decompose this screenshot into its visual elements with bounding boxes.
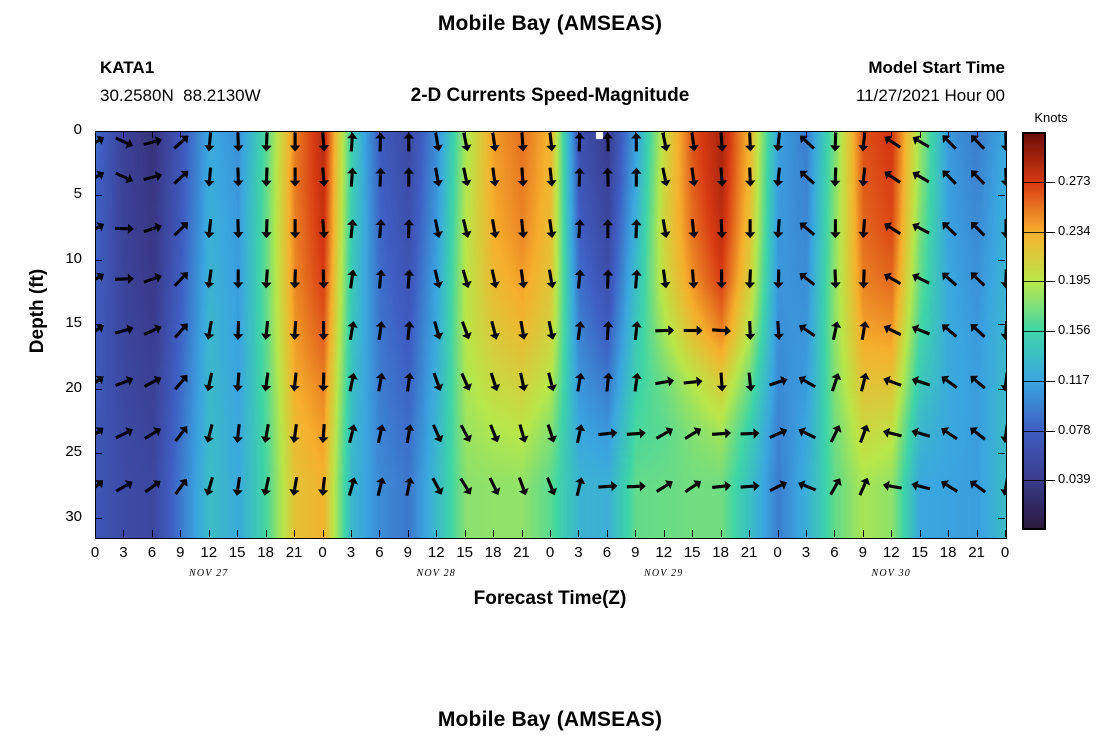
- current-arrow: [745, 373, 755, 392]
- current-arrow: [462, 373, 472, 390]
- current-arrow: [603, 373, 613, 392]
- current-arrow: [433, 168, 443, 187]
- current-arrow: [660, 133, 670, 152]
- current-arrow: [627, 428, 646, 438]
- current-arrow: [547, 425, 557, 443]
- y-axis-tick: [998, 260, 1005, 261]
- current-arrow: [1001, 219, 1006, 238]
- current-arrow: [174, 136, 188, 149]
- current-arrow: [233, 269, 243, 288]
- current-arrow: [461, 168, 471, 187]
- current-arrow: [204, 321, 214, 340]
- x-axis-tick: [806, 131, 807, 138]
- current-arrow: [773, 219, 783, 238]
- y-axis-minor-tick: [95, 176, 100, 177]
- colorbar-tick: [1046, 331, 1055, 332]
- current-arrow: [115, 274, 134, 284]
- current-arrow: [462, 322, 472, 340]
- colorbar-band-seam: [1022, 281, 1046, 282]
- current-arrow: [144, 136, 162, 146]
- current-arrow: [912, 273, 929, 283]
- current-arrow: [490, 133, 500, 152]
- x-axis-tick: [294, 131, 295, 138]
- current-arrow: [971, 222, 985, 236]
- x-axis-tick: [721, 530, 722, 537]
- current-arrow: [519, 478, 529, 496]
- current-arrow: [770, 427, 787, 437]
- x-axis-tick: [1005, 530, 1006, 537]
- current-arrow: [347, 270, 357, 289]
- current-arrow: [347, 321, 357, 340]
- x-axis-tick: [152, 530, 153, 537]
- current-arrow: [883, 376, 901, 386]
- current-arrow: [655, 325, 674, 335]
- current-arrow: [884, 324, 901, 334]
- current-arrow: [318, 321, 328, 340]
- current-arrow: [375, 133, 385, 152]
- colorbar-tick-label: 0.234: [1058, 223, 1091, 238]
- current-arrow: [318, 373, 328, 392]
- colorbar-tick: [1046, 480, 1055, 481]
- current-arrow: [290, 269, 300, 288]
- x-axis-tick: [635, 131, 636, 138]
- current-arrow: [433, 219, 443, 238]
- current-arrow: [971, 272, 985, 285]
- current-arrow: [490, 168, 500, 187]
- x-axis-tick: [664, 131, 665, 138]
- current-arrow: [741, 481, 760, 491]
- current-arrow: [860, 478, 870, 495]
- current-arrow: [347, 168, 357, 187]
- model-start-time-label: Model Start Time: [700, 58, 1005, 78]
- current-arrow: [884, 171, 900, 183]
- y-axis-minor-tick: [95, 433, 100, 434]
- current-arrow: [655, 376, 674, 386]
- x-axis-tick: [778, 530, 779, 537]
- current-arrow: [575, 219, 585, 238]
- x-axis-tick: [692, 131, 693, 138]
- current-arrow: [204, 168, 214, 187]
- current-arrow: [627, 481, 646, 491]
- current-arrow: [547, 270, 557, 289]
- x-axis-tick: [408, 131, 409, 138]
- y-axis-minor-tick: [95, 329, 100, 330]
- current-arrow: [96, 136, 104, 147]
- x-axis-tick: [863, 131, 864, 138]
- current-arrow: [233, 321, 243, 340]
- y-axis-minor-tick: [95, 278, 100, 279]
- model-start-time-value: 11/27/2021 Hour 00: [700, 86, 1005, 106]
- current-arrow: [261, 219, 271, 238]
- current-arrow: [800, 171, 814, 184]
- current-arrow: [261, 270, 271, 289]
- current-arrow: [831, 425, 841, 442]
- y-axis-tick-label: 30: [42, 508, 82, 525]
- current-arrow: [116, 138, 133, 148]
- x-axis-tick: [721, 131, 722, 138]
- current-arrow: [116, 480, 133, 491]
- current-arrow: [319, 219, 329, 238]
- current-arrow: [830, 168, 840, 187]
- current-arrow: [632, 321, 642, 340]
- colorbar-tick-label: 0.078: [1058, 422, 1091, 437]
- x-axis-tick: [209, 530, 210, 537]
- current-arrow: [144, 223, 162, 233]
- current-arrow: [145, 427, 161, 438]
- current-arrow: [490, 373, 500, 391]
- current-arrow: [773, 168, 783, 187]
- x-axis-tick: [180, 530, 181, 537]
- current-arrow: [289, 477, 299, 496]
- current-arrow: [912, 222, 929, 233]
- x-axis-tick: [948, 131, 949, 138]
- current-arrow: [831, 321, 841, 340]
- colorbar-tick: [1046, 281, 1055, 282]
- current-arrow: [404, 168, 414, 187]
- current-arrow: [546, 168, 556, 187]
- x-axis-tick: [237, 530, 238, 537]
- current-arrow: [233, 424, 243, 443]
- y-axis-tick: [95, 324, 102, 325]
- current-arrow: [770, 376, 788, 386]
- current-arrow: [175, 375, 187, 390]
- current-arrow: [433, 321, 443, 339]
- x-axis-tick: [920, 131, 921, 138]
- x-axis-tick: [266, 131, 267, 138]
- current-arrow: [858, 219, 868, 238]
- current-arrow: [461, 133, 471, 152]
- current-arrow: [347, 133, 357, 152]
- x-axis-tick: [834, 131, 835, 138]
- current-arrow: [176, 479, 188, 494]
- current-arrow: [660, 168, 670, 187]
- x-axis-tick: [123, 131, 124, 138]
- colorbar-band-seam: [1022, 381, 1046, 382]
- current-arrow: [598, 481, 617, 491]
- x-axis-tick: [493, 530, 494, 537]
- x-axis-tick: [522, 131, 523, 138]
- current-arrow: [490, 321, 500, 339]
- current-arrow: [632, 373, 642, 392]
- x-axis-tick: [465, 530, 466, 537]
- current-arrow: [660, 219, 670, 238]
- current-arrow: [799, 324, 815, 336]
- current-arrow: [461, 478, 472, 494]
- current-arrow: [575, 477, 585, 496]
- x-axis-tick: [664, 530, 665, 537]
- x-axis-tick: [977, 131, 978, 138]
- x-axis-tick: [635, 530, 636, 537]
- current-arrow: [859, 321, 869, 340]
- current-arrow: [462, 219, 472, 238]
- current-arrow: [348, 477, 358, 495]
- y-axis-tick: [998, 518, 1005, 519]
- current-arrow: [942, 170, 955, 183]
- x-axis-tick: [778, 131, 779, 138]
- current-arrow: [770, 480, 787, 490]
- current-arrow: [376, 424, 386, 443]
- y-axis-title: Depth (ft): [27, 251, 49, 371]
- x-axis-tick: [493, 131, 494, 138]
- current-arrow: [175, 272, 188, 286]
- y-axis-tick: [998, 324, 1005, 325]
- current-arrow: [546, 219, 556, 238]
- current-arrow: [598, 428, 617, 438]
- current-arrow: [375, 168, 385, 187]
- current-arrow: [913, 171, 929, 182]
- bottom-title: Mobile Bay (AMSEAS): [0, 708, 1100, 732]
- current-arrow: [798, 427, 815, 437]
- current-arrow: [942, 222, 956, 235]
- x-axis-tick: [891, 530, 892, 537]
- current-arrow: [912, 428, 930, 438]
- current-arrow: [859, 269, 869, 288]
- x-axis-tick: [550, 530, 551, 537]
- x-axis-tick: [1005, 131, 1006, 138]
- current-arrow: [716, 269, 726, 288]
- x-axis-tick: [578, 131, 579, 138]
- current-arrow: [490, 219, 500, 238]
- current-arrow: [970, 427, 985, 439]
- current-arrow: [319, 133, 329, 152]
- colorbar-tick: [1046, 182, 1055, 183]
- current-arrow: [233, 168, 243, 187]
- current-arrow: [376, 477, 386, 496]
- current-arrow: [376, 270, 386, 289]
- colorbar-tick: [1046, 431, 1055, 432]
- x-axis-tick: [692, 530, 693, 537]
- current-arrow: [204, 270, 214, 289]
- current-arrow: [631, 168, 641, 187]
- current-arrow: [404, 219, 414, 238]
- current-arrow: [657, 480, 673, 491]
- x-axis-tick: [95, 530, 96, 537]
- current-arrow: [603, 168, 613, 187]
- current-arrow: [912, 324, 930, 334]
- current-arrow: [717, 219, 727, 238]
- y-axis-minor-tick: [95, 228, 100, 229]
- x-axis-tick: [209, 131, 210, 138]
- colorbar-band-seam: [1022, 232, 1046, 233]
- colorbar-band-seam: [1022, 431, 1046, 432]
- current-arrow: [547, 373, 557, 392]
- current-arrow: [832, 373, 842, 391]
- x-axis-tick: [323, 530, 324, 537]
- current-arrow: [318, 477, 328, 496]
- x-axis-tick: [749, 530, 750, 537]
- current-arrow: [290, 219, 300, 238]
- current-arrow: [433, 270, 443, 289]
- x-axis-day-label: NOV 28: [376, 568, 496, 579]
- current-arrow: [233, 133, 243, 152]
- current-arrow: [830, 219, 840, 238]
- current-arrow: [176, 426, 188, 441]
- current-arrow: [688, 270, 698, 289]
- current-arrow: [657, 427, 674, 438]
- current-arrow: [261, 424, 271, 443]
- x-axis-tick: [123, 530, 124, 537]
- x-axis-tick: [920, 530, 921, 537]
- current-arrow: [204, 373, 214, 392]
- current-arrow: [883, 428, 902, 438]
- current-arrow: [745, 133, 755, 152]
- current-arrow: [116, 427, 133, 437]
- y-axis-tick: [95, 453, 102, 454]
- current-arrow: [688, 219, 698, 238]
- x-axis-tick: [351, 131, 352, 138]
- current-arrow: [376, 321, 386, 340]
- y-axis-tick: [95, 131, 102, 132]
- current-arrow: [175, 323, 188, 337]
- current-arrow: [547, 478, 557, 496]
- current-arrow: [404, 270, 414, 289]
- x-axis-tick: [436, 530, 437, 537]
- current-arrow: [433, 478, 444, 495]
- current-arrow: [831, 478, 842, 495]
- current-arrow: [175, 222, 189, 235]
- current-arrow: [233, 219, 243, 238]
- current-arrow: [546, 133, 556, 152]
- current-arrow: [518, 373, 528, 392]
- x-axis-tick: [977, 530, 978, 537]
- current-arrow: [603, 219, 613, 238]
- current-arrow: [1000, 424, 1006, 443]
- current-arrow: [290, 373, 300, 392]
- y-axis-tick: [95, 260, 102, 261]
- current-arrow: [883, 481, 902, 491]
- current-arrow: [318, 269, 328, 288]
- y-axis-tick-label: 5: [42, 185, 82, 202]
- x-axis-tick: [266, 530, 267, 537]
- current-arrow: [518, 168, 528, 187]
- current-arrow: [745, 219, 755, 238]
- current-arrow: [375, 219, 385, 238]
- current-arrow: [575, 373, 585, 392]
- current-arrow: [712, 428, 731, 438]
- current-arrow: [518, 219, 528, 238]
- current-arrow: [800, 222, 815, 234]
- current-arrow: [233, 477, 243, 496]
- colorbar-tick-label: 0.156: [1058, 322, 1091, 337]
- current-arrow: [745, 269, 755, 288]
- current-arrow: [774, 321, 784, 340]
- x-axis-tick: [152, 131, 153, 138]
- x-axis-tick: [607, 530, 608, 537]
- colorbar-tick-label: 0.117: [1058, 372, 1090, 387]
- current-arrow: [603, 321, 613, 340]
- current-arrow: [745, 168, 755, 187]
- current-arrow: [461, 425, 472, 442]
- current-arrow: [798, 480, 816, 490]
- x-axis-tick: [294, 530, 295, 537]
- current-arrow: [884, 273, 901, 284]
- y-axis-minor-tick: [95, 381, 100, 382]
- current-arrow: [685, 427, 701, 438]
- current-arrow: [712, 481, 731, 491]
- current-arrow: [741, 428, 760, 438]
- current-arrow: [684, 325, 703, 335]
- current-arrow: [970, 480, 985, 492]
- current-arrow: [689, 168, 699, 187]
- current-arrow: [912, 376, 930, 386]
- heatmap-plot-area: [95, 131, 1007, 539]
- current-arrow: [942, 273, 956, 286]
- current-arrow: [376, 373, 386, 392]
- x-axis-tick: [436, 131, 437, 138]
- current-arrow: [941, 480, 957, 491]
- x-axis-tick: [323, 131, 324, 138]
- x-axis-tick: [749, 131, 750, 138]
- current-arrow: [631, 270, 641, 289]
- current-arrow: [574, 168, 584, 187]
- x-axis-title: Forecast Time(Z): [0, 588, 1100, 610]
- current-arrow: [858, 168, 868, 187]
- x-axis-tick: [863, 530, 864, 537]
- current-arrow: [290, 321, 300, 340]
- colorbar-tick-label: 0.195: [1058, 272, 1091, 287]
- current-arrow: [348, 373, 358, 392]
- y-axis-tick-label: 25: [42, 443, 82, 460]
- current-arrow: [144, 324, 161, 334]
- current-arrow: [491, 425, 501, 443]
- current-arrow: [800, 136, 814, 149]
- station-id-label: KATA1: [100, 58, 154, 78]
- current-arrow: [745, 321, 755, 340]
- colorbar-band-seam: [1022, 331, 1046, 332]
- x-axis-tick: [578, 530, 579, 537]
- current-arrow: [860, 373, 870, 392]
- current-arrow: [884, 222, 900, 233]
- current-arrow: [144, 273, 162, 283]
- current-arrow: [912, 481, 930, 491]
- y-axis-tick: [998, 389, 1005, 390]
- current-arrow: [970, 376, 985, 388]
- y-axis-tick: [998, 131, 1005, 132]
- colorbar-units-label: Knots: [1012, 110, 1090, 125]
- current-arrow: [204, 219, 214, 238]
- y-axis-tick: [998, 453, 1005, 454]
- colorbar-tick-label: 0.273: [1058, 173, 1091, 188]
- current-arrow: [347, 219, 357, 238]
- x-axis-tick: [408, 530, 409, 537]
- current-arrow: [685, 480, 701, 492]
- current-arrow: [773, 269, 783, 288]
- x-axis-tick: [95, 131, 96, 138]
- current-arrow: [519, 425, 529, 443]
- x-axis-tick: [806, 530, 807, 537]
- x-axis-tick: [522, 530, 523, 537]
- y-axis-tick: [95, 518, 102, 519]
- current-arrow: [603, 269, 613, 288]
- colorbar-band-seam: [1022, 182, 1046, 183]
- current-arrow: [115, 224, 134, 234]
- x-axis-tick: [607, 131, 608, 138]
- current-arrow: [261, 321, 271, 340]
- current-arrow: [717, 373, 727, 392]
- current-arrow: [116, 173, 133, 183]
- current-arrow: [404, 321, 414, 340]
- current-arrow: [631, 219, 641, 238]
- current-arrow: [799, 376, 816, 387]
- current-arrow: [712, 326, 731, 336]
- current-arrow: [319, 168, 329, 187]
- current-arrow: [800, 273, 815, 285]
- current-arrow: [433, 133, 443, 152]
- colorbar-tick: [1046, 381, 1055, 382]
- x-axis-day-label: NOV 30: [831, 568, 951, 579]
- current-arrow: [942, 324, 957, 336]
- y-axis-tick-label: 20: [42, 379, 82, 396]
